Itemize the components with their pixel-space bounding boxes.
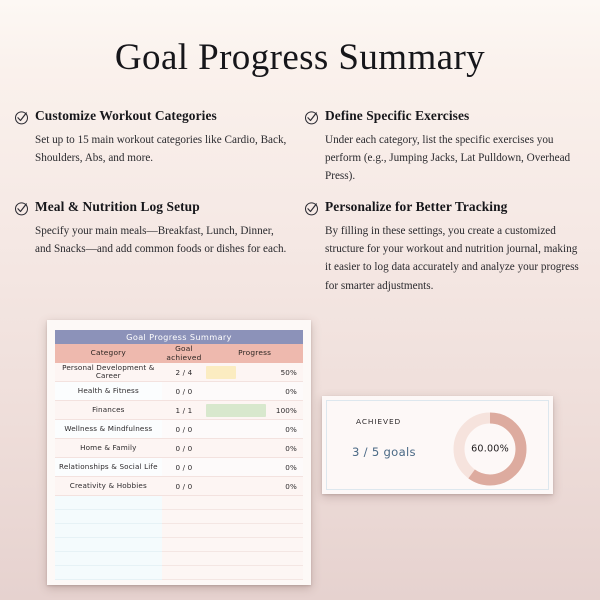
- table-column-header-row: Category Goalachieved Progress: [55, 344, 303, 363]
- cell-progress-bar: [206, 363, 266, 382]
- cell-empty-values: [162, 538, 303, 552]
- cell-progress-bar: [206, 458, 266, 477]
- column-header-category: Category: [55, 344, 162, 363]
- donut-chart: 60.00%: [450, 409, 530, 489]
- table-row[interactable]: Relationships & Social Life0 / 00%: [55, 458, 303, 477]
- cell-goal-achieved: 0 / 0: [162, 439, 207, 458]
- table-body: Personal Development & Career2 / 450%Hea…: [55, 363, 303, 580]
- progress-bar-fill: [206, 366, 236, 379]
- cell-goal-achieved: 0 / 0: [162, 458, 207, 477]
- cell-empty-category: [55, 566, 162, 580]
- cell-goal-achieved: 0 / 0: [162, 382, 207, 401]
- feature-body: Set up to 15 main workout categories lik…: [35, 131, 292, 167]
- cell-goal-achieved: 2 / 4: [162, 363, 207, 382]
- cell-empty-category: [55, 496, 162, 510]
- goal-progress-table: Goal Progress Summary Category Goalachie…: [55, 330, 303, 580]
- cell-percent: 100%: [266, 401, 303, 420]
- column-header-goal-achieved: Goalachieved: [162, 344, 207, 363]
- cell-percent: 0%: [266, 439, 303, 458]
- cell-progress-bar: [206, 382, 266, 401]
- cell-empty-values: [162, 510, 303, 524]
- cell-percent: 0%: [266, 477, 303, 496]
- progress-bar-fill: [206, 404, 266, 417]
- cell-progress-bar: [206, 439, 266, 458]
- table-row[interactable]: Wellness & Mindfulness0 / 00%: [55, 420, 303, 439]
- check-circle-icon: [14, 201, 29, 216]
- feature-heading: Define Specific Exercises: [304, 108, 582, 125]
- cell-category: Creativity & Hobbies: [55, 477, 162, 496]
- feature-heading: Customize Workout Categories: [14, 108, 292, 125]
- cell-category: Relationships & Social Life: [55, 458, 162, 477]
- table-header: Goal Progress Summary Category Goalachie…: [55, 330, 303, 363]
- spreadsheet-card[interactable]: Goal Progress Summary Category Goalachie…: [47, 320, 311, 585]
- feature-grid: Customize Workout Categories Set up to 1…: [0, 79, 600, 309]
- cell-progress-bar: [206, 420, 266, 439]
- cell-empty-values: [162, 566, 303, 580]
- table-title: Goal Progress Summary: [55, 330, 303, 344]
- feature-body: Under each category, list the specific e…: [325, 131, 582, 185]
- cell-empty-category: [55, 524, 162, 538]
- cell-percent: 0%: [266, 458, 303, 477]
- cell-goal-achieved: 1 / 1: [162, 401, 207, 420]
- cell-empty-values: [162, 524, 303, 538]
- page-title: Goal Progress Summary: [0, 0, 600, 79]
- goals-value: 3 / 5 goals: [352, 445, 416, 459]
- cell-goal-achieved: 0 / 0: [162, 477, 207, 496]
- feature-title: Meal & Nutrition Log Setup: [35, 199, 200, 215]
- cell-empty-category: [55, 510, 162, 524]
- cell-progress-bar: [206, 401, 266, 420]
- cell-category: Finances: [55, 401, 162, 420]
- feature-card-1: Customize Workout Categories Set up to 1…: [14, 108, 304, 185]
- feature-card-2: Define Specific Exercises Under each cat…: [304, 108, 594, 185]
- cell-percent: 0%: [266, 420, 303, 439]
- feature-body: Specify your main meals—Breakfast, Lunch…: [35, 222, 292, 258]
- feature-heading: Personalize for Better Tracking: [304, 199, 582, 216]
- table-row[interactable]: Finances1 / 1100%: [55, 401, 303, 420]
- table-row-empty[interactable]: [55, 524, 303, 538]
- table-row[interactable]: Personal Development & Career2 / 450%: [55, 363, 303, 382]
- table-row[interactable]: Health & Fitness0 / 00%: [55, 382, 303, 401]
- donut-percent-label: 60.00%: [450, 444, 530, 455]
- feature-title: Personalize for Better Tracking: [325, 199, 507, 215]
- achieved-summary-card[interactable]: ACHIEVED 3 / 5 goals 60.00%: [322, 396, 553, 494]
- feature-title: Customize Workout Categories: [35, 108, 217, 124]
- feature-card-3: Meal & Nutrition Log Setup Specify your …: [14, 199, 304, 295]
- cell-percent: 50%: [266, 363, 303, 382]
- cell-empty-category: [55, 552, 162, 566]
- cell-percent: 0%: [266, 382, 303, 401]
- table-row-empty[interactable]: [55, 510, 303, 524]
- cell-category: Health & Fitness: [55, 382, 162, 401]
- cell-category: Personal Development & Career: [55, 363, 162, 382]
- cell-goal-achieved: 0 / 0: [162, 420, 207, 439]
- cell-progress-bar: [206, 477, 266, 496]
- table-row[interactable]: Creativity & Hobbies0 / 00%: [55, 477, 303, 496]
- check-circle-icon: [304, 201, 319, 216]
- feature-body: By filling in these settings, you create…: [325, 222, 582, 295]
- achieved-label: ACHIEVED: [356, 417, 401, 426]
- feature-title: Define Specific Exercises: [325, 108, 469, 124]
- table-title-row: Goal Progress Summary: [55, 330, 303, 344]
- table-row-empty[interactable]: [55, 496, 303, 510]
- cell-empty-category: [55, 538, 162, 552]
- table-row-empty[interactable]: [55, 538, 303, 552]
- table-row-empty[interactable]: [55, 566, 303, 580]
- check-circle-icon: [304, 110, 319, 125]
- achieved-card-inner: ACHIEVED 3 / 5 goals 60.00%: [326, 400, 549, 490]
- column-header-progress: Progress: [206, 344, 303, 363]
- check-circle-icon: [14, 110, 29, 125]
- feature-heading: Meal & Nutrition Log Setup: [14, 199, 292, 216]
- table-row-empty[interactable]: [55, 552, 303, 566]
- cell-empty-values: [162, 496, 303, 510]
- cell-category: Wellness & Mindfulness: [55, 420, 162, 439]
- feature-card-4: Personalize for Better Tracking By filli…: [304, 199, 594, 295]
- table-row[interactable]: Home & Family0 / 00%: [55, 439, 303, 458]
- cell-category: Home & Family: [55, 439, 162, 458]
- cell-empty-values: [162, 552, 303, 566]
